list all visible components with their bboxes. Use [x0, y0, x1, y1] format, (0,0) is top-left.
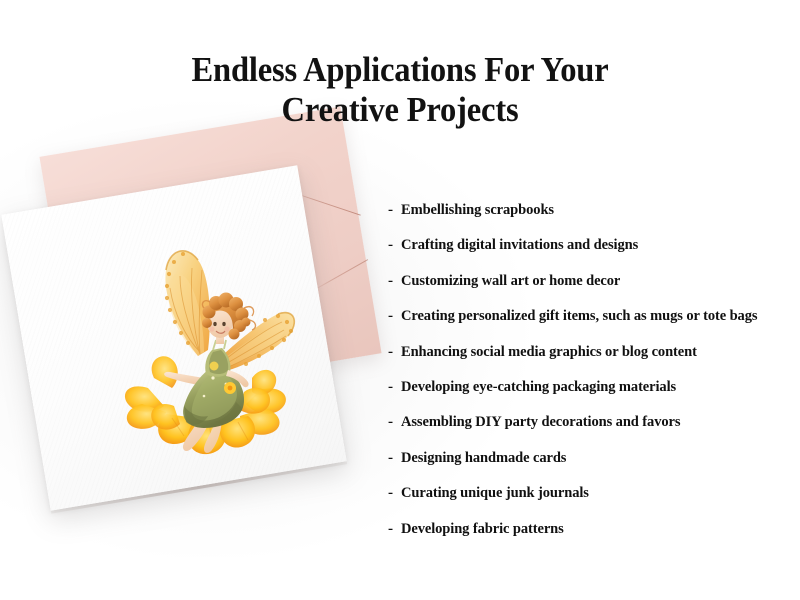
list-item: - Curating unique junk journals: [388, 475, 788, 510]
list-item-label: Assembling DIY party decorations and fav…: [401, 404, 680, 439]
list-bullet-icon: -: [388, 475, 401, 510]
list-bullet-icon: -: [388, 298, 401, 333]
list-bullet-icon: -: [388, 511, 401, 546]
list-item-label: Embellishing scrapbooks: [401, 192, 554, 227]
list-bullet-icon: -: [388, 440, 401, 475]
title-line-2: Creative Projects: [28, 90, 772, 130]
list-item-label: Designing handmade cards: [401, 440, 566, 475]
list-item-label: Customizing wall art or home decor: [401, 263, 620, 298]
list-item-label: Developing fabric patterns: [401, 511, 564, 546]
list-item: - Crafting digital invitations and desig…: [388, 227, 788, 262]
list-bullet-icon: -: [388, 369, 401, 404]
title-line-1: Endless Applications For Your: [28, 50, 772, 90]
product-mockup-image: [0, 110, 400, 530]
list-item-label: Creating personalized gift items, such a…: [401, 298, 757, 333]
list-bullet-icon: -: [388, 404, 401, 439]
promo-graphic-page: Endless Applications For Your Creative P…: [0, 0, 800, 600]
list-item-label: Curating unique junk journals: [401, 475, 589, 510]
list-item: - Assembling DIY party decorations and f…: [388, 404, 788, 439]
list-item-label: Enhancing social media graphics or blog …: [401, 334, 697, 369]
list-bullet-icon: -: [388, 192, 401, 227]
list-item: - Creating personalized gift items, such…: [388, 298, 788, 333]
list-item-label: Developing eye-catching packaging materi…: [401, 369, 676, 404]
flower-fairy-illustration: [112, 238, 302, 468]
list-item-label: Crafting digital invitations and designs: [401, 227, 638, 262]
list-item: - Developing eye-catching packaging mate…: [388, 369, 788, 404]
list-item: - Embellishing scrapbooks: [388, 192, 788, 227]
list-item: - Designing handmade cards: [388, 440, 788, 475]
list-bullet-icon: -: [388, 227, 401, 262]
list-item: - Customizing wall art or home decor: [388, 263, 788, 298]
list-item: - Enhancing social media graphics or blo…: [388, 334, 788, 369]
page-title: Endless Applications For Your Creative P…: [0, 50, 800, 130]
applications-list: - Embellishing scrapbooks - Crafting dig…: [388, 192, 788, 546]
list-item: - Developing fabric patterns: [388, 511, 788, 546]
list-bullet-icon: -: [388, 263, 401, 298]
list-bullet-icon: -: [388, 334, 401, 369]
